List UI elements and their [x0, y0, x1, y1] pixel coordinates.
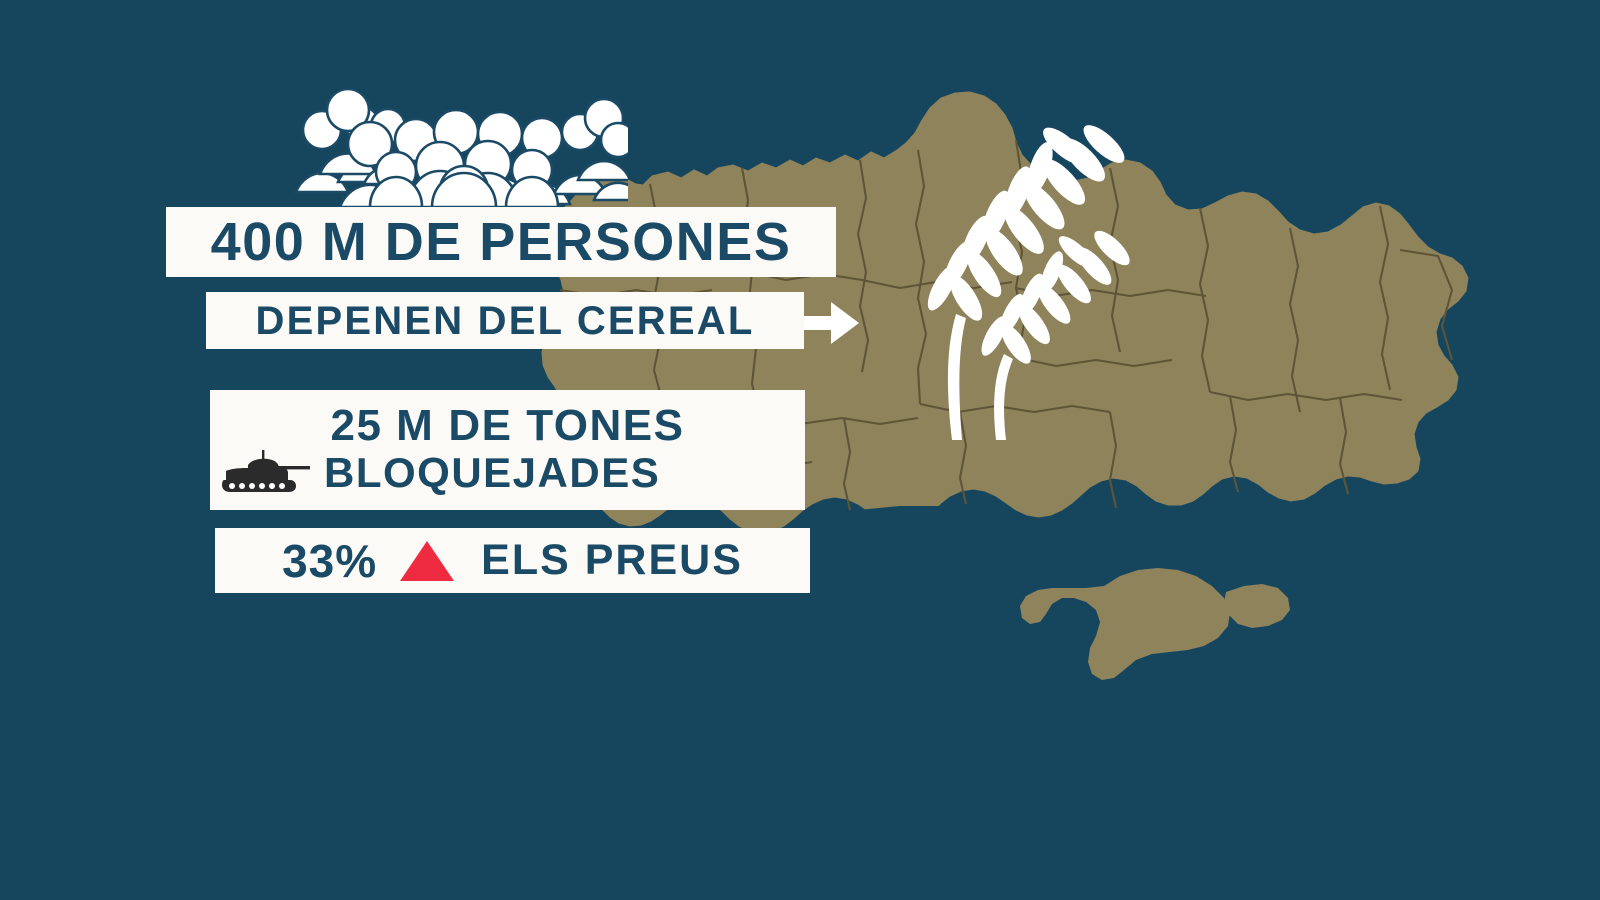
azov-sea — [1176, 512, 1334, 624]
stat-depenen-text: DEPENEN DEL CEREAL — [256, 301, 755, 341]
sea-inlet-south — [900, 524, 1238, 662]
crowd-of-people-icon — [292, 82, 628, 207]
stat-tones-label: DE TONES — [448, 404, 684, 448]
wheat-stem-second — [994, 354, 1013, 440]
triangle-up-icon — [399, 539, 455, 583]
crimea-peninsula — [1020, 568, 1230, 680]
stat-preus-number: 33% — [282, 538, 377, 584]
stat-tones-line2-text: BLOQUEJADES — [324, 452, 660, 494]
stat-box-persones: 400 M DE PERSONES — [166, 207, 836, 277]
crimea-west-spur — [1224, 584, 1290, 628]
stat-tones-line2: BLOQUEJADES — [210, 450, 805, 496]
wheat-stalks-icon — [900, 118, 1162, 440]
stat-box-preus: 33% ELS PREUS — [215, 528, 810, 593]
black-sea — [816, 516, 950, 638]
infographic-canvas: 400 M DE PERSONES DEPENEN DEL CEREAL 25 … — [0, 0, 1600, 900]
west-sea-wedge — [828, 506, 1010, 566]
stat-persones-text: 400 M DE PERSONES — [211, 215, 792, 269]
stat-box-depenen: DEPENEN DEL CEREAL — [206, 292, 804, 349]
stat-box-tones: 25 M DE TONES — [210, 390, 805, 510]
stat-preus-label: ELS PREUS — [481, 539, 743, 582]
stat-tones-number: 25 M — [331, 404, 435, 448]
wheat-stem-main — [948, 314, 966, 440]
stat-tones-line1: 25 M DE TONES — [210, 404, 805, 448]
tank-icon — [218, 450, 310, 496]
arrow-right-icon — [797, 298, 859, 348]
